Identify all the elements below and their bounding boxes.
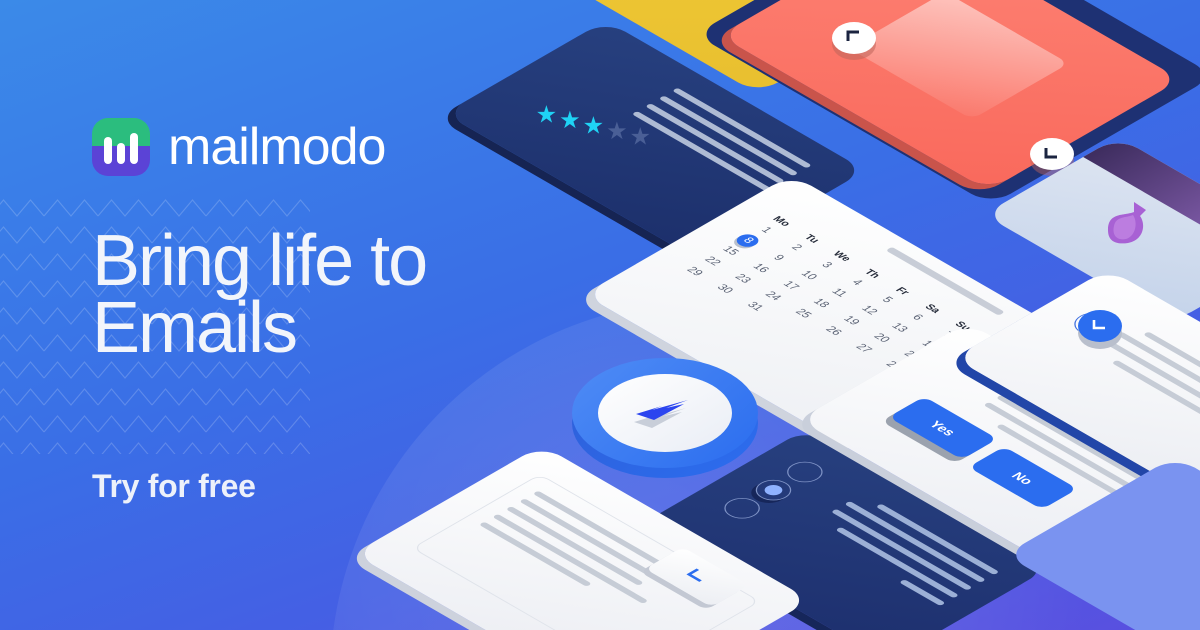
try-for-free-cta[interactable]: Try for free: [92, 468, 256, 505]
radio-option[interactable]: [717, 494, 767, 523]
star-filled-icon[interactable]: ★: [559, 107, 581, 148]
top-left-resize-handle[interactable]: [832, 22, 876, 54]
no-button-label: No: [1009, 470, 1038, 487]
star-rating[interactable]: ★★★★★: [536, 102, 652, 148]
star-filled-icon[interactable]: ★: [583, 113, 605, 148]
lightning-bolt-icon: [630, 388, 700, 434]
cursor-pointer-icon: [678, 566, 717, 589]
corner-marker-icon: [1044, 146, 1060, 160]
vase-icon: [1100, 196, 1162, 248]
lightning-action-button[interactable]: [572, 358, 758, 478]
yes-button-label: Yes: [926, 418, 960, 437]
mailmodo-bars-icon: [92, 118, 150, 176]
star-filled-icon[interactable]: ★: [536, 102, 558, 148]
star-empty-icon[interactable]: ★: [630, 124, 652, 148]
radio-option[interactable]: [780, 457, 830, 486]
page-title: Bring life to Emails: [92, 228, 612, 362]
rating-card-text-lines: [632, 88, 812, 192]
clock-icon[interactable]: [1078, 310, 1122, 342]
star-empty-icon[interactable]: ★: [606, 118, 628, 148]
hero-banner: ★★★★★ ‹ › MoTuWeThFrSaSu1234567891011121…: [0, 0, 1200, 630]
brand-logo[interactable]: mailmodo: [92, 118, 385, 176]
brand-name: mailmodo: [168, 121, 385, 173]
corner-marker-icon: [846, 30, 862, 44]
radio-option-selected[interactable]: [749, 476, 799, 505]
radio-dot: [761, 483, 786, 497]
